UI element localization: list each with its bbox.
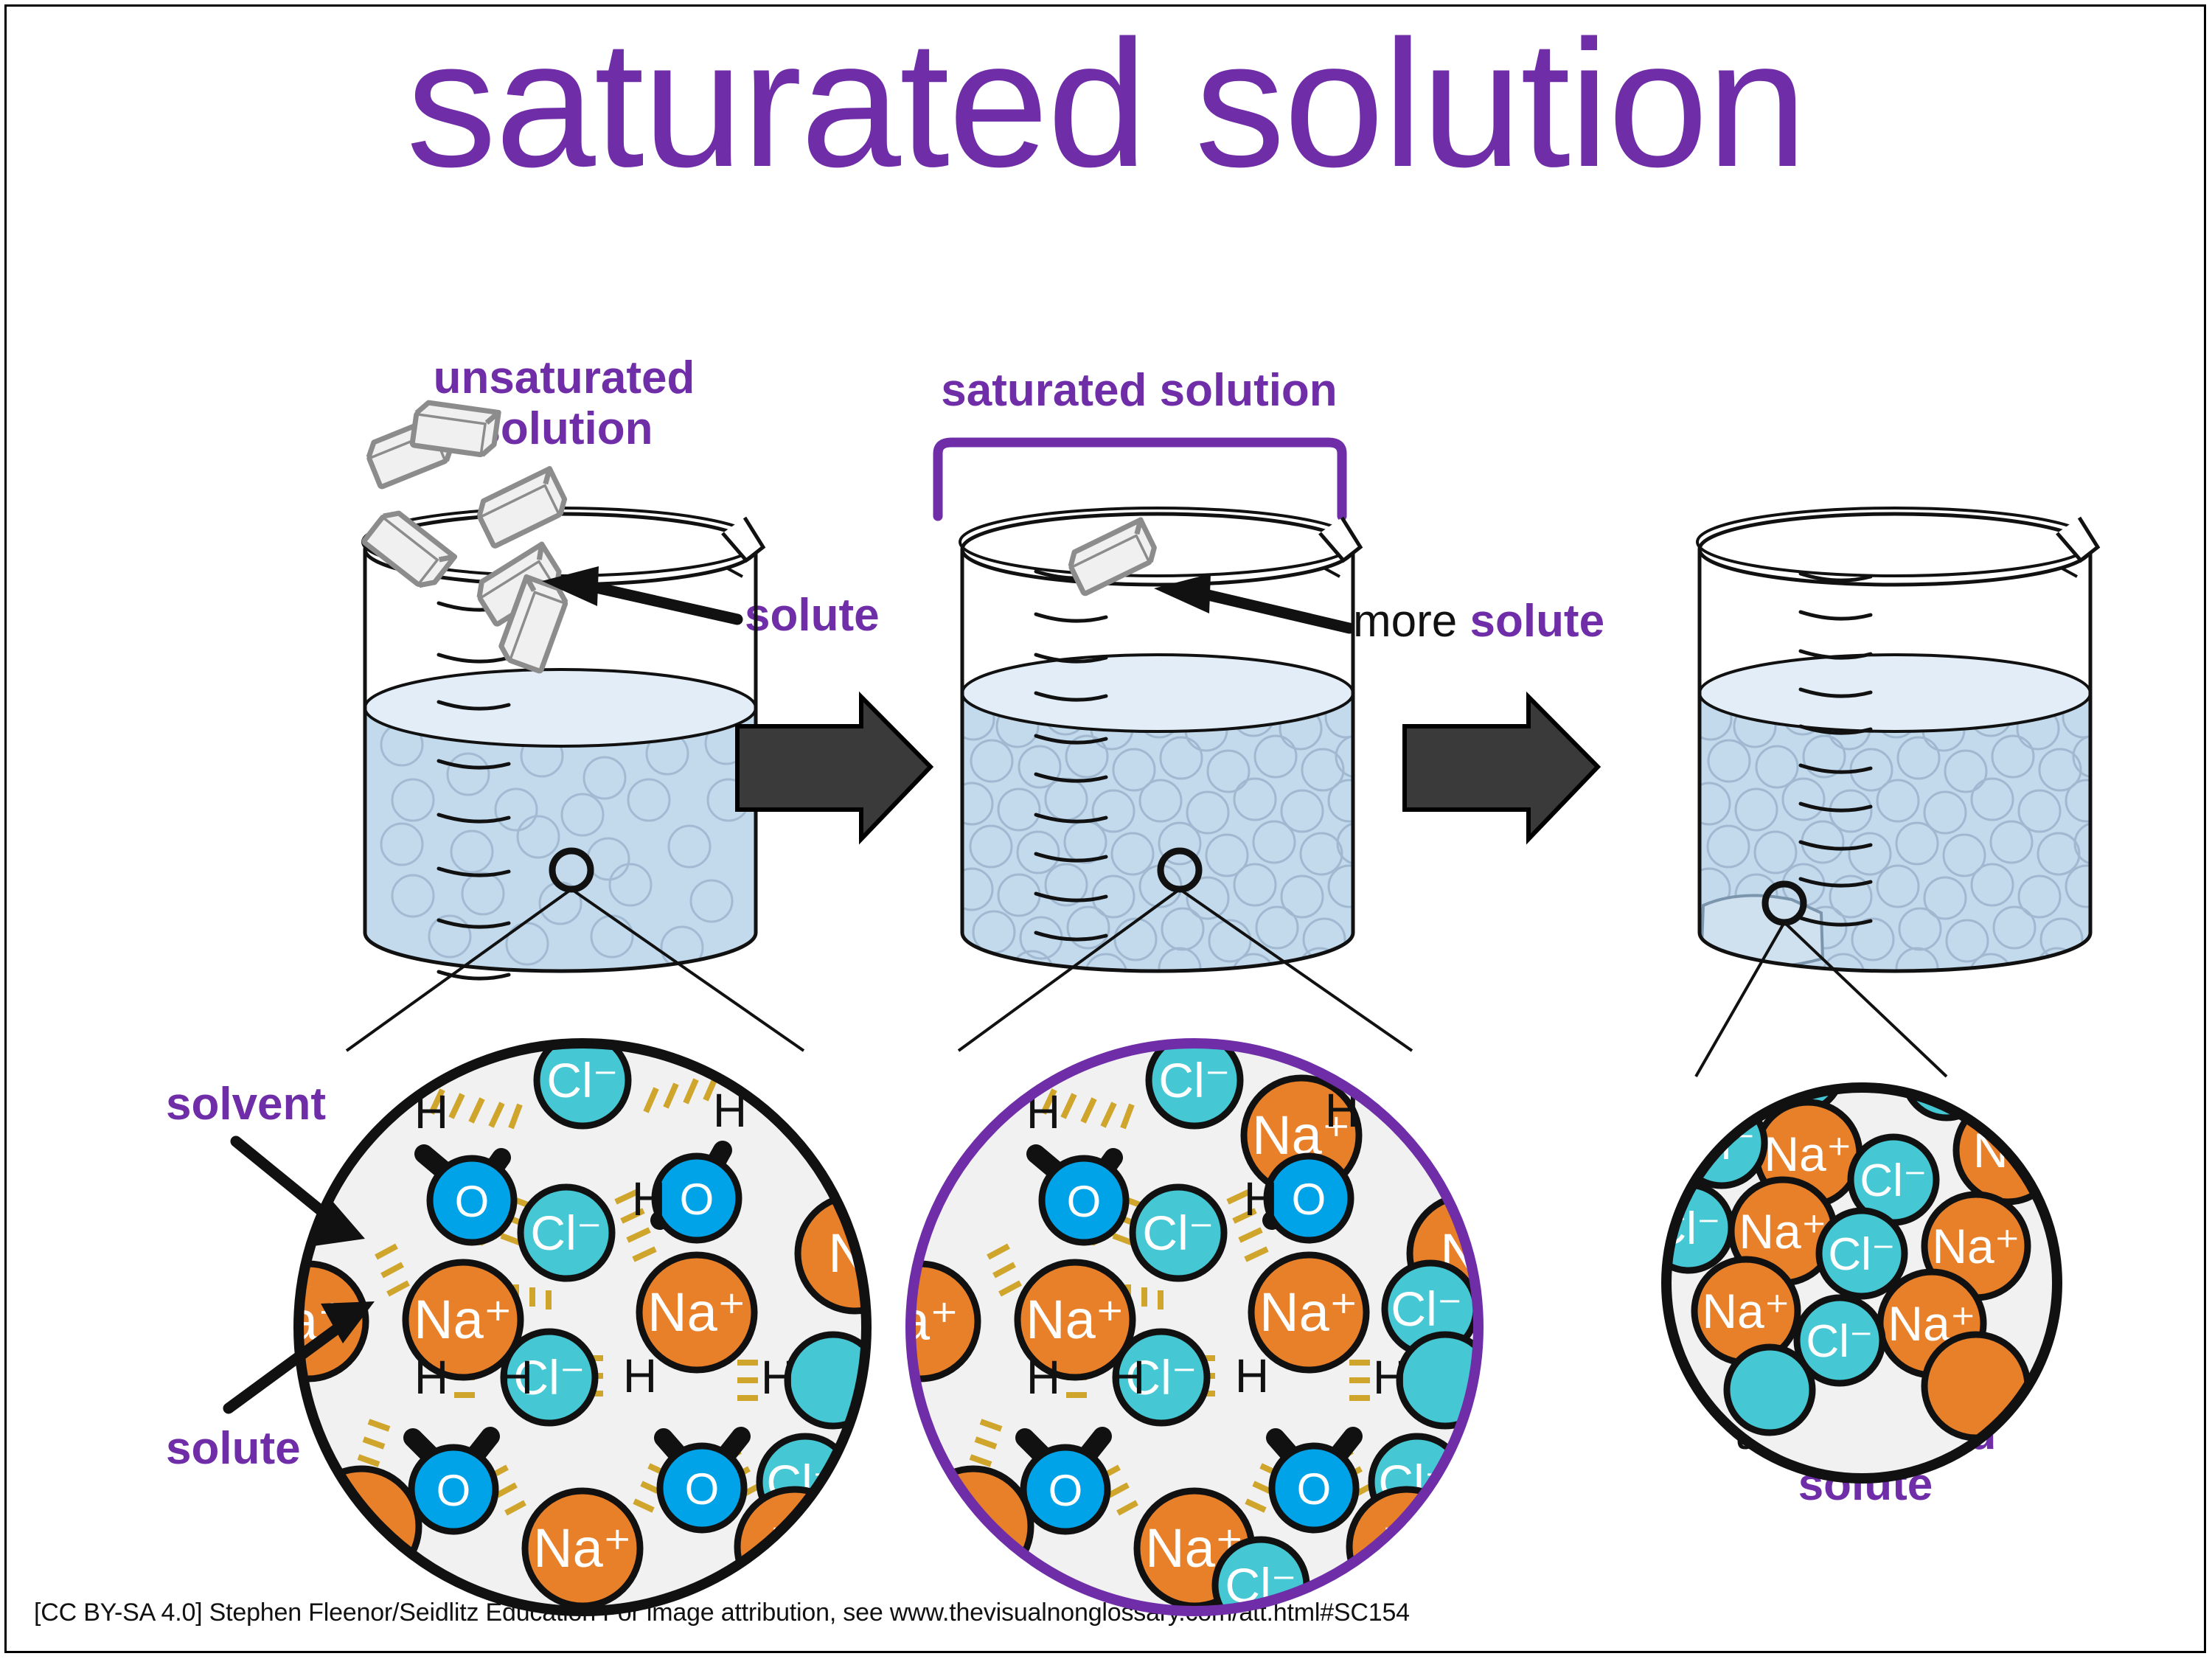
svg-text:Cl⁻: Cl⁻ <box>1158 1053 1230 1107</box>
diagram-canvas: saturated solution unsaturated solution … <box>0 0 2212 1659</box>
svg-text:Cl⁻: Cl⁻ <box>1142 1206 1214 1260</box>
svg-text:Cl⁻: Cl⁻ <box>1860 1155 1927 1206</box>
svg-text:H: H <box>1244 1172 1278 1225</box>
svg-text:Na⁺: Na⁺ <box>1764 1127 1851 1181</box>
diagram-artwork: Cl⁻ O O Cl⁻ Na⁺ Na <box>0 0 2212 1659</box>
svg-text:Na⁺: Na⁺ <box>1702 1284 1790 1338</box>
solute-crystals-falling-1 <box>364 401 570 672</box>
svg-text:Cl⁻: Cl⁻ <box>530 1206 602 1260</box>
svg-text:O: O <box>437 1466 471 1515</box>
svg-text:H: H <box>414 1351 448 1404</box>
svg-text:H: H <box>761 1351 795 1404</box>
svg-text:Cl⁻: Cl⁻ <box>1653 1203 1720 1254</box>
svg-text:Na⁺: Na⁺ <box>647 1281 746 1343</box>
process-arrow-2 <box>1405 697 1598 839</box>
svg-text:O: O <box>1297 1464 1332 1514</box>
svg-text:O: O <box>1067 1177 1102 1226</box>
svg-text:Cl⁻: Cl⁻ <box>546 1053 618 1107</box>
svg-text:H: H <box>499 1351 533 1404</box>
svg-text:H: H <box>632 1172 666 1225</box>
svg-text:Na⁺: Na⁺ <box>1259 1281 1358 1343</box>
svg-text:O: O <box>1292 1175 1326 1224</box>
svg-text:Na⁺: Na⁺ <box>414 1289 512 1350</box>
zoom-circle-undissolved: Cl⁻ Cl⁻ Na⁺ Na Cl⁻ Cl⁻ Na⁺ Cl⁻ N <box>1646 1026 2059 1478</box>
svg-text:Cl⁻: Cl⁻ <box>1806 1316 1873 1367</box>
svg-text:O: O <box>685 1464 720 1514</box>
svg-text:Cl⁻: Cl⁻ <box>1391 1281 1462 1336</box>
svg-text:Na⁺: Na⁺ <box>1932 1219 2020 1273</box>
svg-text:H: H <box>1373 1351 1407 1404</box>
zoom-circle-saturated: Cl⁻ Na⁺ O O Cl⁻ Na⁺ Na⁺ a⁺ <box>863 1034 1525 1631</box>
svg-text:O: O <box>455 1177 490 1226</box>
saturated-solution-bracket <box>938 442 1342 516</box>
svg-text:H: H <box>623 1349 657 1402</box>
process-arrow-1 <box>737 697 931 839</box>
svg-text:O: O <box>1048 1466 1083 1515</box>
svg-text:H: H <box>1235 1349 1269 1402</box>
svg-text:Na⁺: Na⁺ <box>1026 1289 1124 1350</box>
beaker-with-precipitate <box>1688 508 2116 1077</box>
svg-text:Na⁺: Na⁺ <box>533 1517 632 1579</box>
beaker-saturated <box>951 508 1412 1051</box>
svg-text:Cl⁻: Cl⁻ <box>1828 1229 1895 1280</box>
svg-text:H: H <box>1111 1351 1145 1404</box>
svg-text:Na⁺: Na⁺ <box>1739 1204 1826 1259</box>
svg-text:H: H <box>1026 1351 1060 1404</box>
svg-text:O: O <box>680 1175 714 1224</box>
